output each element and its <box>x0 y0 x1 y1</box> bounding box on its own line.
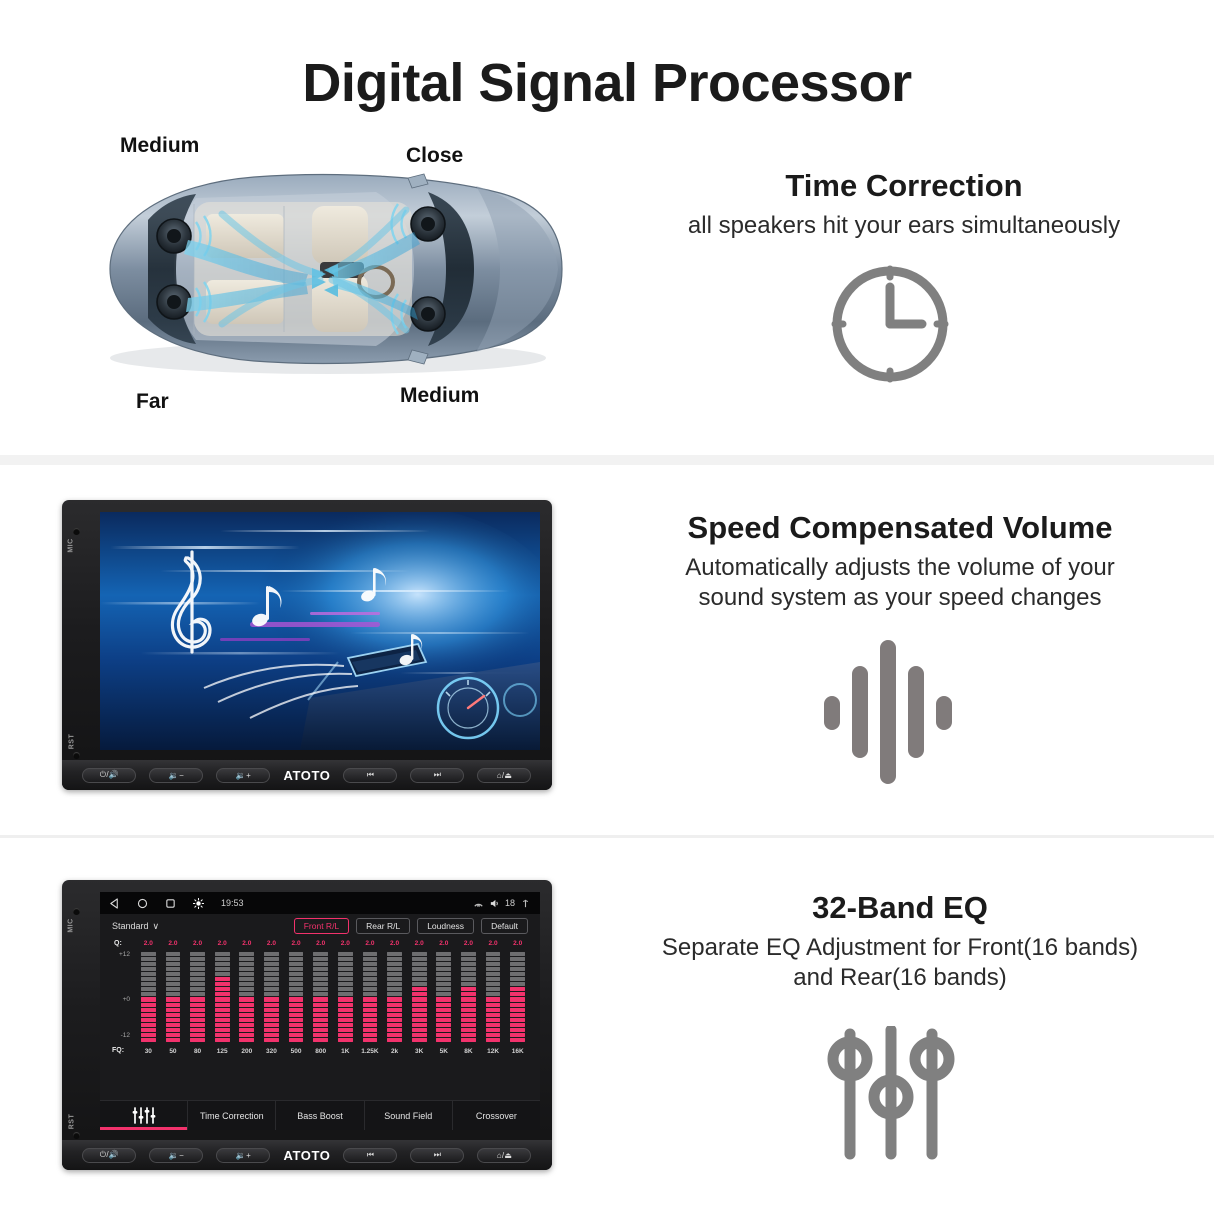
chevron-down-icon: ∨ <box>153 921 160 932</box>
eq-segment <box>412 957 427 961</box>
eq-segment <box>166 1023 181 1027</box>
eq-segment <box>412 997 427 1001</box>
eq-segment <box>215 997 230 1001</box>
eq-segment <box>387 977 402 981</box>
eq-segment <box>338 972 353 976</box>
volume-up-button-eq[interactable]: 🔉+ <box>216 1148 270 1163</box>
tab-sound-field[interactable]: Sound Field <box>365 1101 453 1130</box>
eq-segment <box>461 972 476 976</box>
eq-segment <box>190 1023 205 1027</box>
eq-segment <box>338 1003 353 1007</box>
eq-band[interactable] <box>432 952 457 1042</box>
back-triangle-icon[interactable] <box>109 898 120 909</box>
eq-segment <box>363 1018 378 1022</box>
eq-segment <box>412 967 427 971</box>
volume-down-button-eq[interactable]: 🔉− <box>149 1148 203 1163</box>
eq-frequency-labels: 3050801252003205008001K1.25K2k3K5K8K12K1… <box>136 1044 530 1058</box>
section-2-text: Speed Compensated Volume Automatically a… <box>600 510 1200 614</box>
eq-segment <box>166 952 181 956</box>
preset-label: Standard <box>112 921 149 931</box>
button-default[interactable]: Default <box>481 918 528 934</box>
eq-segment <box>190 1018 205 1022</box>
eq-segment <box>215 987 230 991</box>
eq-segment <box>239 952 254 956</box>
eq-segment <box>461 992 476 996</box>
section-3-subtext-line2: and Rear(16 bands) <box>600 963 1200 994</box>
freq-label: 200 <box>235 1048 260 1055</box>
eq-segment <box>215 977 230 981</box>
freq-label: 1.25K <box>358 1048 383 1055</box>
status-time: 19:53 <box>221 898 244 908</box>
eq-segment <box>215 1003 230 1007</box>
power-mute-button[interactable]: ⏻/🔊 <box>82 768 136 783</box>
bluetooth-icon <box>473 898 484 909</box>
eq-segment <box>190 972 205 976</box>
eq-segment <box>363 987 378 991</box>
eq-segment <box>313 987 328 991</box>
eq-segment <box>486 1013 501 1017</box>
media-screen[interactable] <box>100 512 540 750</box>
eq-band[interactable] <box>456 952 481 1042</box>
eq-segment <box>461 1008 476 1012</box>
eq-segment <box>338 982 353 986</box>
eq-segment <box>363 977 378 981</box>
eq-segment <box>264 982 279 986</box>
eq-segment <box>264 972 279 976</box>
section-1-text: Time Correction all speakers hit your ea… <box>614 168 1194 241</box>
brightness-icon[interactable] <box>193 898 204 909</box>
recents-square-icon[interactable] <box>165 898 176 909</box>
eq-segment <box>387 1033 402 1037</box>
eq-segment <box>412 992 427 996</box>
eq-segment <box>264 1003 279 1007</box>
eq-bottom-tabs: Time Correction Bass Boost Sound Field C… <box>100 1100 540 1130</box>
eq-segment <box>363 957 378 961</box>
eq-segment <box>461 997 476 1001</box>
mic-hole-eq <box>73 908 80 915</box>
eq-segment <box>215 982 230 986</box>
eq-segment <box>264 1018 279 1022</box>
volume-up-button[interactable]: 🔉+ <box>216 768 270 783</box>
eq-segment <box>412 1028 427 1032</box>
eq-segment <box>510 1018 525 1022</box>
tab-bass-boost[interactable]: Bass Boost <box>276 1101 364 1130</box>
eq-segment <box>239 997 254 1001</box>
hardware-button-bar-eq: ⏻/🔊 🔉− 🔉+ ATOTO ⏮ ⏭ ⌂/⏏ <box>62 1140 552 1170</box>
eq-segment <box>141 987 156 991</box>
eq-segment <box>338 967 353 971</box>
section-3-heading: 32-Band EQ <box>600 890 1200 926</box>
next-track-button[interactable]: ⏭ <box>410 768 464 783</box>
q-value: 2.0 <box>382 940 407 951</box>
eq-segment <box>239 1023 254 1027</box>
eq-segment <box>289 992 304 996</box>
eq-segment <box>486 957 501 961</box>
freq-label: 1K <box>333 1048 358 1055</box>
reset-hole <box>73 752 80 759</box>
eq-segment <box>436 1038 451 1042</box>
eq-segment <box>486 1008 501 1012</box>
volume-speaker-icon <box>489 898 500 909</box>
axis-top: +12 <box>119 951 130 958</box>
section-1-heading: Time Correction <box>614 168 1194 204</box>
eq-segment <box>190 977 205 981</box>
infographic-page: Digital Signal Processor Medium Close Fa… <box>0 0 1214 1214</box>
eq-segment <box>486 997 501 1001</box>
eq-segment <box>239 1028 254 1032</box>
preset-dropdown[interactable]: Standard ∨ <box>112 921 159 932</box>
eq-band[interactable] <box>210 952 235 1042</box>
eq-segment <box>141 1013 156 1017</box>
eq-segment <box>486 1038 501 1042</box>
eq-segment <box>190 1013 205 1017</box>
eq-segment <box>166 967 181 971</box>
eq-segment <box>510 952 525 956</box>
eq-segment <box>264 1033 279 1037</box>
eq-segment <box>141 1018 156 1022</box>
eq-segment <box>363 1028 378 1032</box>
eq-segment <box>461 1013 476 1017</box>
eq-segment <box>387 967 402 971</box>
car-topdown-illustration <box>76 162 581 377</box>
eq-band[interactable] <box>136 952 161 1042</box>
eq-segment <box>313 1003 328 1007</box>
q-value: 2.0 <box>259 940 284 951</box>
volume-level: 18 <box>505 898 515 908</box>
eq-segment <box>313 977 328 981</box>
eq-segment <box>289 967 304 971</box>
q-value: 2.0 <box>407 940 432 951</box>
eq-segment <box>239 972 254 976</box>
q-value: 2.0 <box>333 940 358 951</box>
eq-segment <box>141 967 156 971</box>
eq-segment <box>289 1038 304 1042</box>
eq-segment <box>461 982 476 986</box>
eq-segment <box>412 962 427 966</box>
home-back-button-eq[interactable]: ⌂/⏏ <box>477 1148 531 1163</box>
freq-label: 50 <box>161 1048 186 1055</box>
eq-segment <box>387 1008 402 1012</box>
eq-segment <box>313 962 328 966</box>
eq-segment <box>387 992 402 996</box>
eq-segment <box>239 962 254 966</box>
eq-segment <box>141 977 156 981</box>
bezel-rst-label-eq: RST <box>68 1114 75 1130</box>
eq-segment <box>289 962 304 966</box>
button-loudness[interactable]: Loudness <box>417 918 474 934</box>
eq-segment <box>387 1003 402 1007</box>
q-value: 2.0 <box>136 940 161 951</box>
eq-segment <box>166 987 181 991</box>
freq-label: 30 <box>136 1048 161 1055</box>
previous-track-button[interactable]: ⏮ <box>343 768 397 783</box>
eq-segment <box>190 1003 205 1007</box>
eq-segment <box>387 1018 402 1022</box>
eq-segment <box>363 1013 378 1017</box>
eq-segment <box>412 1018 427 1022</box>
eq-segment <box>510 1033 525 1037</box>
eq-segment <box>486 1028 501 1032</box>
freq-label: 3K <box>407 1048 432 1055</box>
eq-segment <box>486 962 501 966</box>
eq-segment <box>486 987 501 991</box>
eq-segment <box>141 1003 156 1007</box>
eq-segment <box>141 1038 156 1042</box>
eq-segment <box>387 987 402 991</box>
freq-label: 320 <box>259 1048 284 1055</box>
eq-segment <box>264 962 279 966</box>
q-value: 2.0 <box>505 940 530 951</box>
eq-segment <box>264 1038 279 1042</box>
axis-mid: +0 <box>123 996 130 1003</box>
eq-segment <box>166 1018 181 1022</box>
car-diagram: Medium Close Far Medium <box>58 132 598 432</box>
q-values-row: 2.02.02.02.02.02.02.02.02.02.02.02.02.02… <box>136 940 530 951</box>
eq-graph[interactable]: Q: +12 +0 -12 2.02.02.02.02.02.02.02.02.… <box>110 940 530 1058</box>
eq-segment <box>264 977 279 981</box>
button-rear-rl[interactable]: Rear R/L <box>356 918 410 934</box>
eq-segment <box>190 1028 205 1032</box>
eq-segment <box>436 982 451 986</box>
eq-segment <box>387 962 402 966</box>
eq-segment <box>436 962 451 966</box>
eq-segment <box>461 967 476 971</box>
q-value: 2.0 <box>235 940 260 951</box>
eq-segment <box>264 1013 279 1017</box>
eq-segment <box>141 1028 156 1032</box>
section-divider-1 <box>0 455 1214 465</box>
eq-band[interactable] <box>333 952 358 1042</box>
eq-segment <box>239 1018 254 1022</box>
page-title: Digital Signal Processor <box>0 52 1214 114</box>
head-unit-media: MIC RST <box>62 500 552 790</box>
eq-segment <box>239 967 254 971</box>
eq-band[interactable] <box>358 952 383 1042</box>
eq-band[interactable] <box>235 952 260 1042</box>
eq-segment <box>264 992 279 996</box>
eq-segment <box>461 977 476 981</box>
eq-segment <box>190 952 205 956</box>
eq-segment <box>313 957 328 961</box>
eq-segment <box>363 992 378 996</box>
eq-segment <box>510 982 525 986</box>
eq-segment <box>289 1018 304 1022</box>
eq-segment <box>264 1008 279 1012</box>
eq-segment <box>215 1013 230 1017</box>
eq-segment <box>363 967 378 971</box>
section-3-text: 32-Band EQ Separate EQ Adjustment for Fr… <box>600 890 1200 994</box>
eq-band-bars[interactable] <box>136 952 530 1042</box>
eq-segment <box>510 1023 525 1027</box>
eq-sliders-icon <box>131 1107 157 1124</box>
eq-segment <box>436 1008 451 1012</box>
freq-label: 800 <box>308 1048 333 1055</box>
eq-segment <box>190 1038 205 1042</box>
bezel-rst-label: RST <box>68 734 75 750</box>
eq-segment <box>239 992 254 996</box>
eq-segment <box>289 982 304 986</box>
eq-segment <box>338 977 353 981</box>
eq-segment <box>190 1033 205 1037</box>
eq-segment <box>486 1033 501 1037</box>
eq-segment <box>461 1033 476 1037</box>
eq-segment <box>239 1033 254 1037</box>
eq-segment <box>190 962 205 966</box>
eq-segment <box>510 1003 525 1007</box>
eq-segment <box>313 967 328 971</box>
eq-segment <box>510 962 525 966</box>
eq-segment <box>313 982 328 986</box>
eq-segment <box>486 972 501 976</box>
eq-segment <box>264 987 279 991</box>
eq-band[interactable] <box>308 952 333 1042</box>
fq-label: FQ: <box>112 1044 124 1058</box>
eq-segment <box>436 967 451 971</box>
eq-segment <box>289 1023 304 1027</box>
eq-segment <box>215 1023 230 1027</box>
q-value: 2.0 <box>308 940 333 951</box>
eq-segment <box>338 1028 353 1032</box>
eq-segment <box>412 1008 427 1012</box>
eq-segment <box>289 997 304 1001</box>
eq-segment <box>510 1013 525 1017</box>
eq-segment <box>461 1028 476 1032</box>
eq-segment <box>239 977 254 981</box>
eq-segment <box>412 977 427 981</box>
eq-segment <box>387 1028 402 1032</box>
eq-screen[interactable]: 19:53 18 <box>100 892 540 1130</box>
eq-segment <box>313 1023 328 1027</box>
eq-segment <box>510 992 525 996</box>
eq-segment <box>510 957 525 961</box>
q-value: 2.0 <box>456 940 481 951</box>
freq-label: 5K <box>432 1048 457 1055</box>
eq-segment <box>461 987 476 991</box>
eq-segment <box>461 952 476 956</box>
eq-segment <box>338 1038 353 1042</box>
eq-band[interactable] <box>382 952 407 1042</box>
eq-segment <box>166 962 181 966</box>
freq-label: 2k <box>382 1048 407 1055</box>
eq-segment <box>264 1023 279 1027</box>
eq-segment <box>190 957 205 961</box>
tab-time-correction[interactable]: Time Correction <box>188 1101 276 1130</box>
eq-segment <box>510 1038 525 1042</box>
eq-segment <box>190 997 205 1001</box>
car-label-bottom-right: Medium <box>400 384 479 408</box>
eq-segment <box>486 992 501 996</box>
eq-segment <box>363 982 378 986</box>
eq-segment <box>289 1008 304 1012</box>
eq-segment <box>239 957 254 961</box>
eq-segment <box>166 1003 181 1007</box>
home-circle-icon[interactable] <box>137 898 148 909</box>
waveform-icon <box>822 638 954 786</box>
hardware-button-bar: ⏻/🔊 🔉− 🔉+ ATOTO ⏮ ⏭ ⌂/⏏ <box>62 760 552 790</box>
eq-segment <box>313 997 328 1001</box>
eq-band[interactable] <box>161 952 186 1042</box>
eq-segment <box>486 1018 501 1022</box>
eq-segment <box>387 997 402 1001</box>
eq-segment <box>289 1033 304 1037</box>
eq-segment <box>412 1033 427 1037</box>
eq-segment <box>141 952 156 956</box>
eq-segment <box>289 972 304 976</box>
eq-band[interactable] <box>185 952 210 1042</box>
antenna-icon <box>520 898 531 909</box>
eq-segment <box>510 972 525 976</box>
tab-equalizer[interactable] <box>100 1101 188 1130</box>
previous-track-button-eq[interactable]: ⏮ <box>343 1148 397 1163</box>
eq-toolbar: Standard ∨ Front R/L Rear R/L Loudness D… <box>100 914 540 938</box>
car-label-top-left: Medium <box>120 134 199 158</box>
q-value: 2.0 <box>161 940 186 951</box>
section-2-heading: Speed Compensated Volume <box>600 510 1200 546</box>
eq-segment <box>338 962 353 966</box>
eq-segment <box>141 1033 156 1037</box>
head-unit-eq: MIC RST <box>62 880 552 1170</box>
home-back-button[interactable]: ⌂/⏏ <box>477 768 531 783</box>
eq-segment <box>461 1023 476 1027</box>
eq-segment <box>436 1028 451 1032</box>
button-front-rl[interactable]: Front R/L <box>294 918 349 934</box>
eq-segment <box>436 952 451 956</box>
eq-segment <box>313 952 328 956</box>
next-track-button-eq[interactable]: ⏭ <box>410 1148 464 1163</box>
eq-band[interactable] <box>505 952 530 1042</box>
eq-segment <box>363 1008 378 1012</box>
eq-segment <box>461 1038 476 1042</box>
android-status-bar: 19:53 18 <box>100 892 540 914</box>
eq-segment <box>412 1013 427 1017</box>
bezel-mic-label-eq: MIC <box>68 918 75 932</box>
eq-segment <box>215 972 230 976</box>
eq-band[interactable] <box>481 952 506 1042</box>
eq-segment <box>289 952 304 956</box>
eq-segment <box>215 967 230 971</box>
eq-segment <box>436 992 451 996</box>
q-value: 2.0 <box>185 940 210 951</box>
volume-down-button[interactable]: 🔉− <box>149 768 203 783</box>
freq-label: 500 <box>284 1048 309 1055</box>
eq-segment <box>412 1023 427 1027</box>
eq-segment <box>166 1033 181 1037</box>
eq-band[interactable] <box>407 952 432 1042</box>
tab-crossover[interactable]: Crossover <box>453 1101 540 1130</box>
power-mute-button-eq[interactable]: ⏻/🔊 <box>82 1148 136 1163</box>
eq-segment <box>190 1008 205 1012</box>
eq-band[interactable] <box>284 952 309 1042</box>
eq-segment <box>166 977 181 981</box>
q-value: 2.0 <box>481 940 506 951</box>
freq-label: 12K <box>481 1048 506 1055</box>
eq-segment <box>289 957 304 961</box>
eq-segment <box>141 997 156 1001</box>
brand-logo-eq: ATOTO <box>283 1148 330 1163</box>
q-value: 2.0 <box>210 940 235 951</box>
eq-segment <box>313 1013 328 1017</box>
eq-segment <box>363 1023 378 1027</box>
eq-segment <box>436 1003 451 1007</box>
eq-segment <box>141 957 156 961</box>
eq-segment <box>486 982 501 986</box>
eq-segment <box>412 952 427 956</box>
eq-band[interactable] <box>259 952 284 1042</box>
eq-segment <box>215 1008 230 1012</box>
eq-segment <box>239 987 254 991</box>
eq-segment <box>264 967 279 971</box>
eq-segment <box>363 1033 378 1037</box>
